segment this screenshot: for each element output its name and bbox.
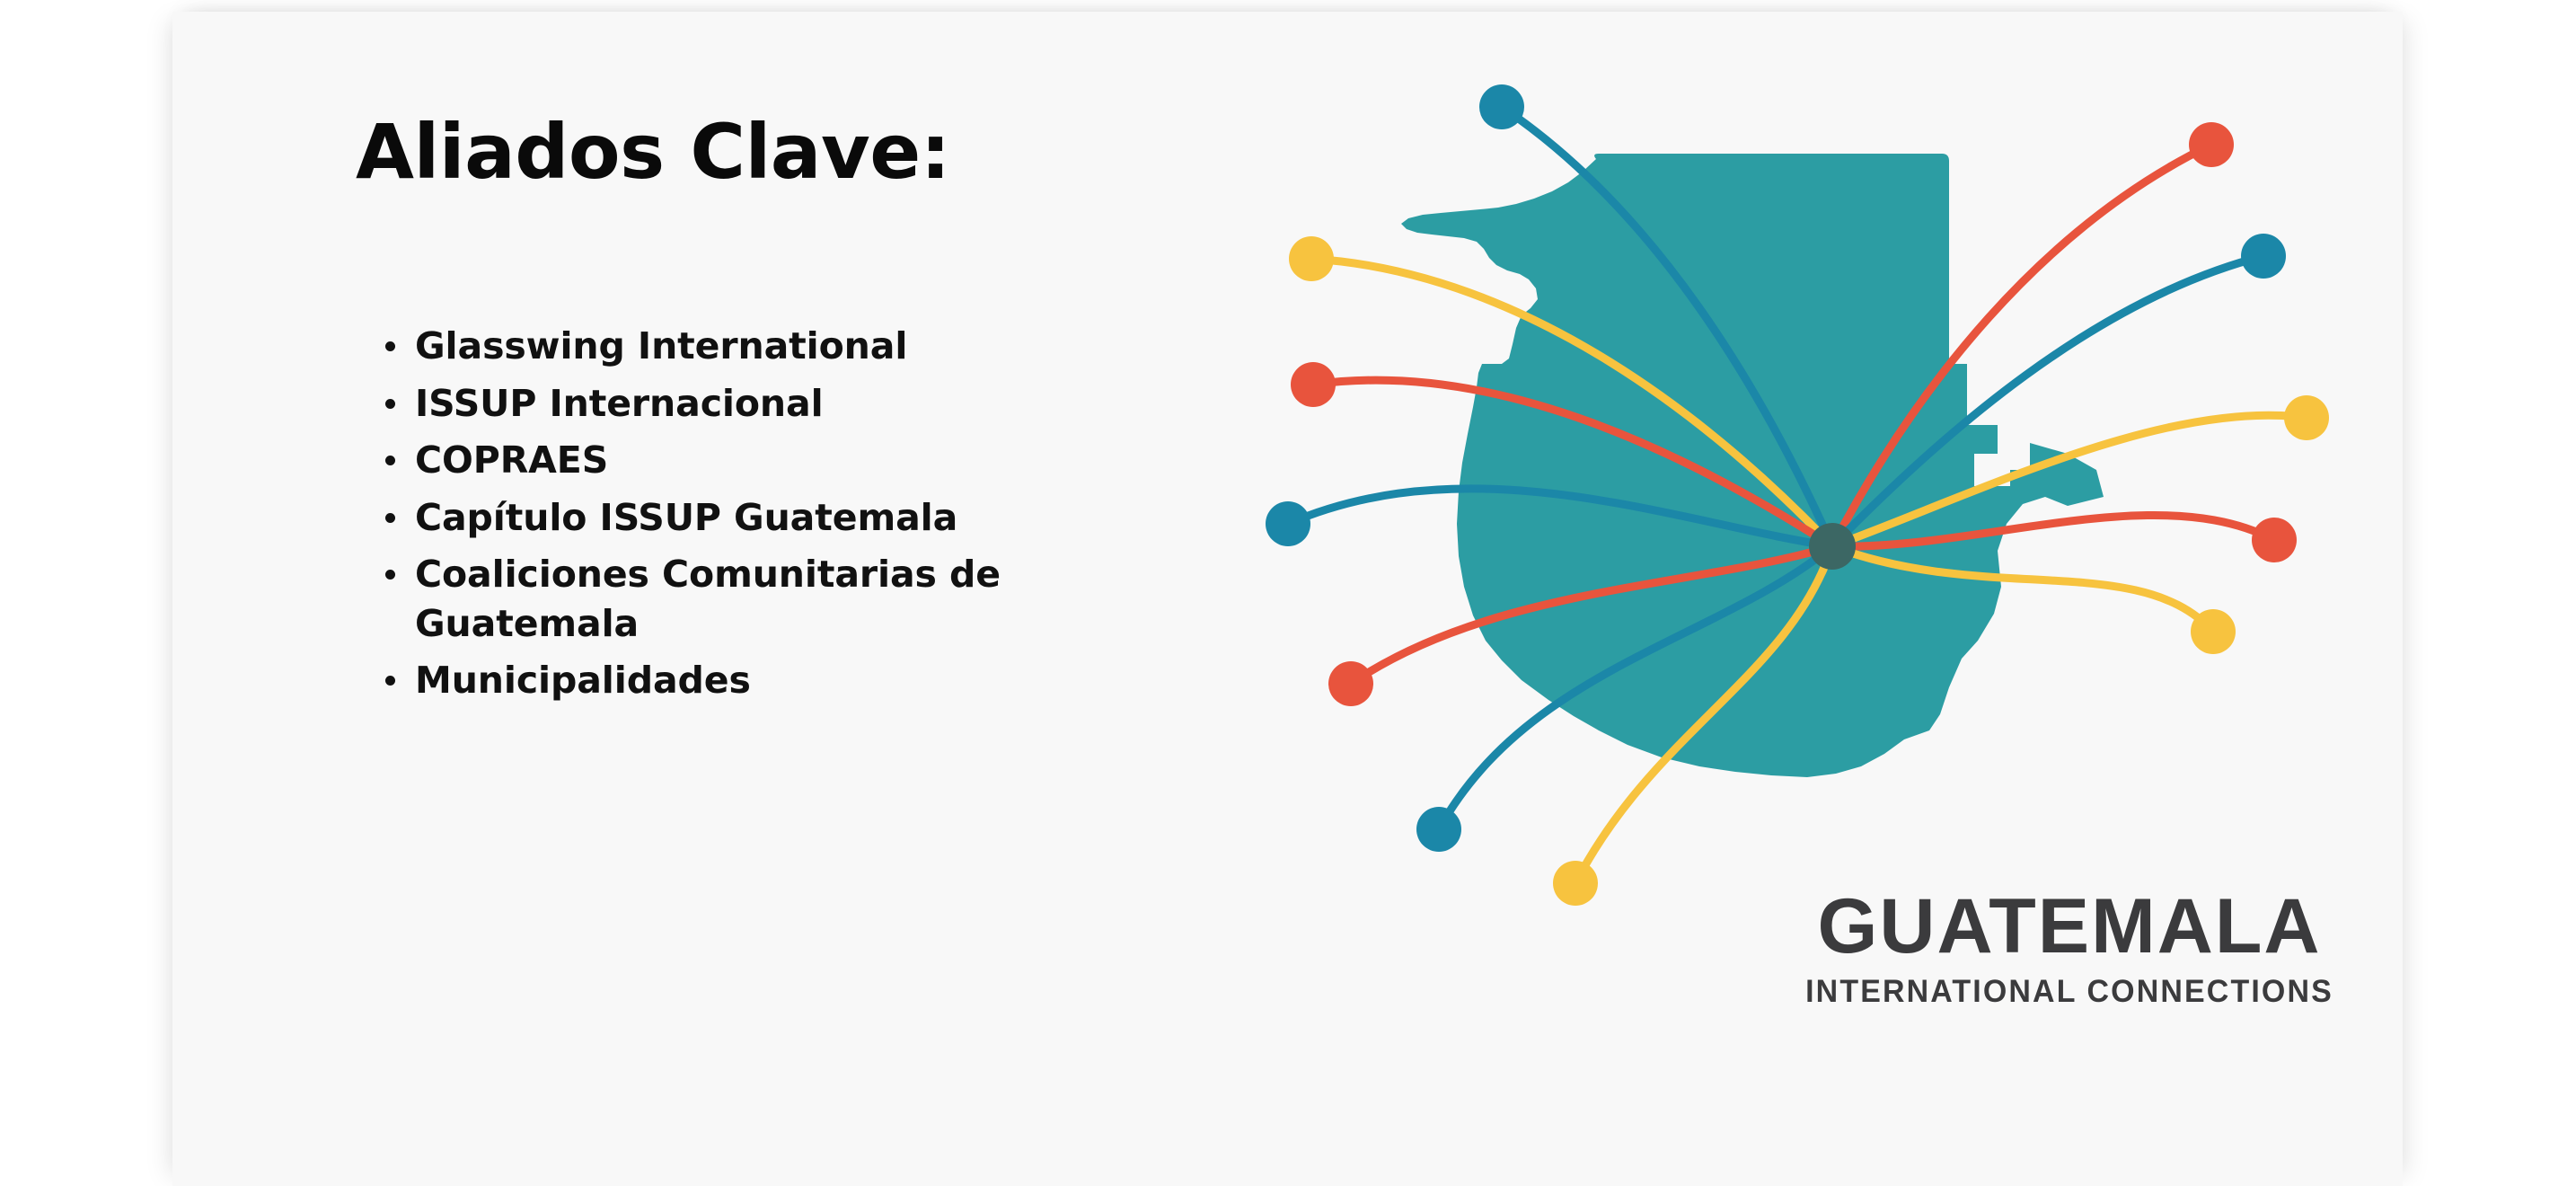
list-item-label: Capítulo ISSUP Guatemala — [415, 496, 957, 539]
bullet-icon — [385, 341, 395, 351]
list-item-label: COPRAES — [415, 438, 608, 482]
endpoint-dot-red — [1328, 661, 1373, 706]
bullet-icon — [385, 570, 395, 580]
list-item: ISSUP Internacional — [411, 379, 1094, 429]
slide-stage: Aliados Clave: Glasswing International I… — [0, 0, 2576, 1186]
endpoint-dot-red — [2252, 518, 2297, 562]
endpoint-dot-yellow — [2191, 609, 2236, 654]
graphic-column: GUATEMALA INTERNATIONAL CONNECTIONS — [1232, 48, 2400, 1090]
endpoint-dot-blue — [1479, 84, 1524, 129]
list-item-label: Glasswing International — [415, 324, 907, 367]
hub-node-icon — [1809, 523, 1856, 570]
endpoint-dot-red — [1291, 362, 1336, 407]
allies-list: Glasswing International ISSUP Internacio… — [375, 322, 1094, 713]
list-item: Municipalidades — [411, 656, 1094, 705]
text-column: Aliados Clave: Glasswing International I… — [187, 12, 1193, 1186]
guatemala-connections-graphic — [1232, 48, 2400, 964]
list-item: Coaliciones Comunitarias de Guatemala — [411, 550, 1094, 648]
wordmark-title: GUATEMALA — [1782, 888, 2357, 965]
endpoint-dot-yellow — [2284, 395, 2329, 440]
list-item-label: Coaliciones Comunitarias de Guatemala — [415, 553, 1001, 645]
bullet-icon — [385, 399, 395, 409]
endpoint-dot-yellow — [1553, 861, 1598, 906]
bullet-icon — [385, 676, 395, 686]
wordmark-subtitle: INTERNATIONAL CONNECTIONS — [1791, 976, 2349, 1007]
list-item-label: Municipalidades — [415, 659, 751, 702]
list-item: Capítulo ISSUP Guatemala — [411, 493, 1094, 543]
bullet-icon — [385, 513, 395, 523]
endpoint-dot-blue — [1266, 501, 1310, 546]
wordmark: GUATEMALA INTERNATIONAL CONNECTIONS — [1782, 888, 2357, 1007]
list-item-label: ISSUP Internacional — [415, 382, 824, 425]
bullet-icon — [385, 456, 395, 465]
endpoint-dot-yellow — [1289, 236, 1334, 281]
page-title: Aliados Clave: — [356, 112, 950, 191]
slide-card: Aliados Clave: Glasswing International I… — [172, 12, 2403, 1186]
endpoint-dot-red — [2189, 122, 2234, 167]
endpoint-dot-blue — [2241, 234, 2286, 279]
list-item: Glasswing International — [411, 322, 1094, 371]
list-item: COPRAES — [411, 436, 1094, 485]
endpoint-dot-blue — [1416, 807, 1461, 852]
